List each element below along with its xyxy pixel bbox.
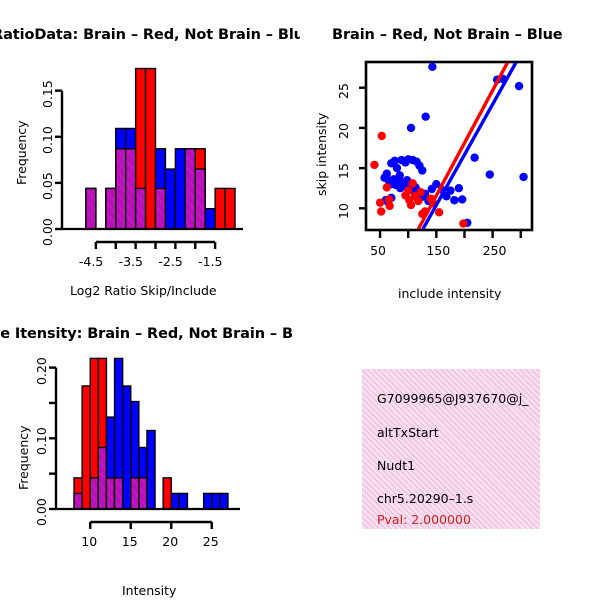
gene-intensity-ytick-0: 0.00	[34, 498, 49, 526]
gene-intensity-xlabel: Intensity	[122, 583, 176, 598]
panel-intensity-scatter: Brain – Red, Not Brain – Blue skip inten…	[300, 0, 600, 300]
gene-intensity-ytick-2: 0.10	[34, 427, 49, 455]
gene-intensity-xtick-0: 10	[81, 534, 97, 549]
scatter-ytick-3: 25	[336, 83, 351, 99]
scatter-xtick-2: 150	[426, 243, 450, 258]
gene-intensity-xtick-1: 15	[122, 534, 138, 549]
scatter-xlabel: include intensity	[398, 286, 501, 300]
info-line-coordinate: chr5.20290–1.s	[377, 491, 473, 506]
scatter-ytick-1: 15	[336, 163, 351, 179]
info-line-probe-id: G7099965@J937670@j_	[377, 391, 528, 406]
ratio-histogram-xlabel: Log2 Ratio Skip/Include	[70, 283, 217, 298]
ratio-histogram-ylabel: Frequency	[14, 120, 29, 185]
gene-intensity-title: ne Itensity: Brain – Red, Not Brain – B	[0, 326, 293, 342]
gene-intensity-ytick-4: 0.20	[34, 357, 49, 385]
scatter-ytick-0: 10	[336, 203, 351, 219]
ratio-histogram-ytick-0: 0.00	[40, 218, 55, 246]
scatter-points	[370, 63, 528, 228]
ratio-histogram-xtick-0: -4.5	[79, 254, 103, 269]
ratio-histogram-bars	[86, 69, 235, 229]
scatter-title: Brain – Red, Not Brain – Blue	[332, 27, 563, 43]
ratio-histogram-xtick-6: -1.5	[198, 254, 222, 269]
ratio-histogram-ytick-2: 0.10	[40, 126, 55, 154]
panel-ratio-histogram: RatioData: Brain – Red, Not Brain – Blu …	[0, 0, 300, 300]
scatter-xtick-0: 50	[370, 243, 386, 258]
gene-intensity-xtick-3: 25	[203, 534, 219, 549]
info-line-pval: Pval: 2.000000	[377, 512, 471, 527]
ratio-histogram-title: RatioData: Brain – Red, Not Brain – Blu	[0, 27, 300, 43]
info-line-gene-symbol: Nudt1	[377, 458, 415, 473]
panel-gene-intensity-histogram: ne Itensity: Brain – Red, Not Brain – B …	[0, 300, 300, 600]
ratio-histogram-ytick-3: 0.15	[40, 80, 55, 108]
scatter-xtick-4: 250	[483, 243, 507, 258]
ratio-histogram-ytick-1: 0.05	[40, 172, 55, 200]
gene-info-box: G7099965@J937670@j_ altTxStart Nudt1 chr…	[362, 369, 540, 529]
info-line-event-type: altTxStart	[377, 425, 439, 440]
scatter-ytick-2: 20	[336, 123, 351, 139]
gene-intensity-xtick-2: 20	[162, 534, 178, 549]
scatter-ylabel: skip intensity	[314, 113, 329, 196]
ratio-histogram-xtick-4: -2.5	[158, 254, 182, 269]
ratio-histogram-xtick-2: -3.5	[119, 254, 143, 269]
r-multipanel-figure: RatioData: Brain – Red, Not Brain – Blu …	[0, 0, 600, 600]
gene-intensity-ylabel: Frequency	[16, 425, 31, 490]
gene-intensity-bars	[74, 358, 228, 509]
scatter-fit-lines	[418, 62, 516, 229]
